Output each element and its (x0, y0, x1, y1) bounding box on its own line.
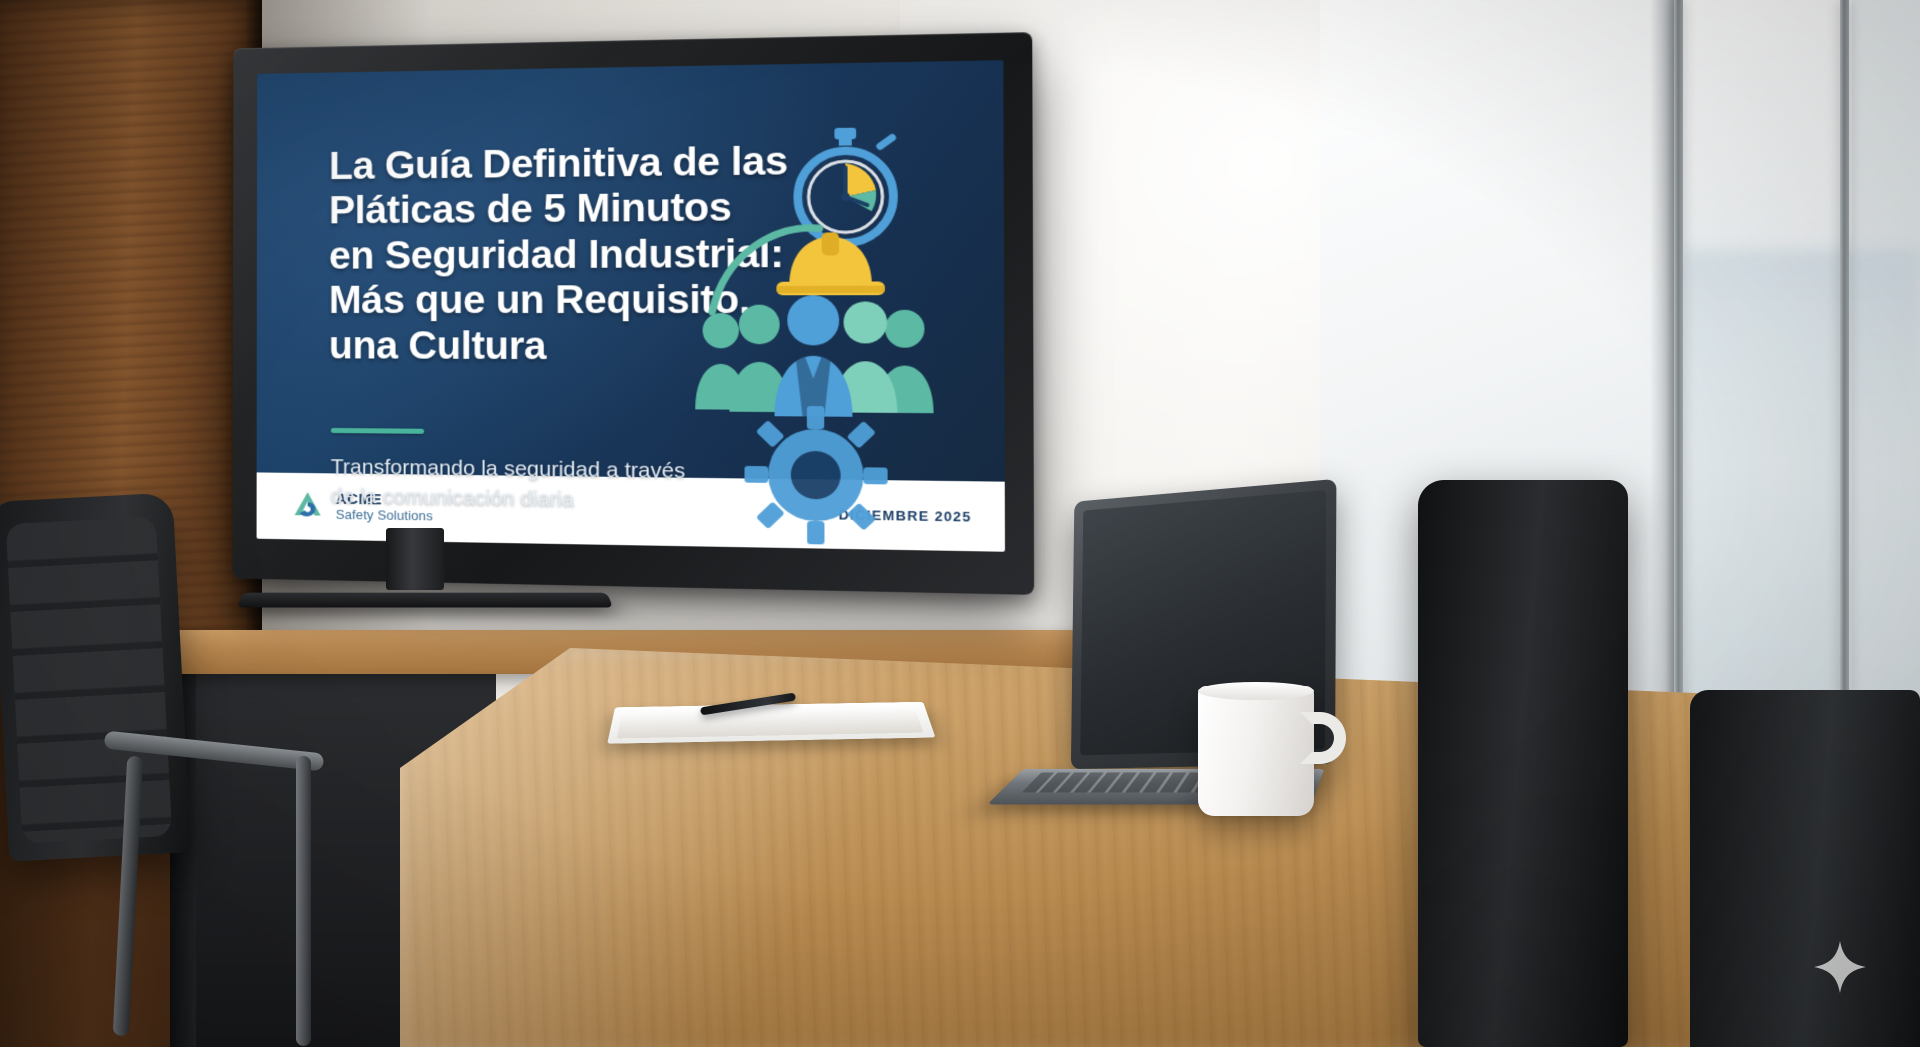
window-sky (1680, 250, 1920, 460)
gear-icon (744, 406, 887, 546)
coffee-mug-rim (1198, 682, 1314, 700)
office-chair-left-cushion (6, 516, 173, 843)
office-scene: La Guía Definitiva de las Pláticas de 5 … (0, 0, 1920, 1047)
office-chair-far-right (1690, 690, 1920, 1047)
tv-stand-base (237, 593, 613, 608)
accent-divider (331, 428, 424, 434)
office-chair-right (1418, 480, 1628, 1047)
slide-illustration (682, 124, 965, 547)
team-people-icon (693, 282, 965, 419)
wall-mounted-television[interactable]: La Guía Definitiva de las Pláticas de 5 … (233, 32, 1035, 595)
slide-body: La Guía Definitiva de las Pláticas de 5 … (257, 60, 1005, 482)
tv-screen[interactable]: La Guía Definitiva de las Pláticas de 5 … (257, 60, 1005, 552)
acme-logo-icon (291, 489, 325, 524)
sparkle-icon (1812, 939, 1868, 995)
office-chair-left-leg (296, 756, 311, 1046)
tv-stand-neck (386, 528, 444, 590)
coffee-mug (1198, 686, 1314, 816)
presentation-slide: La Guía Definitiva de las Pláticas de 5 … (257, 60, 1005, 552)
